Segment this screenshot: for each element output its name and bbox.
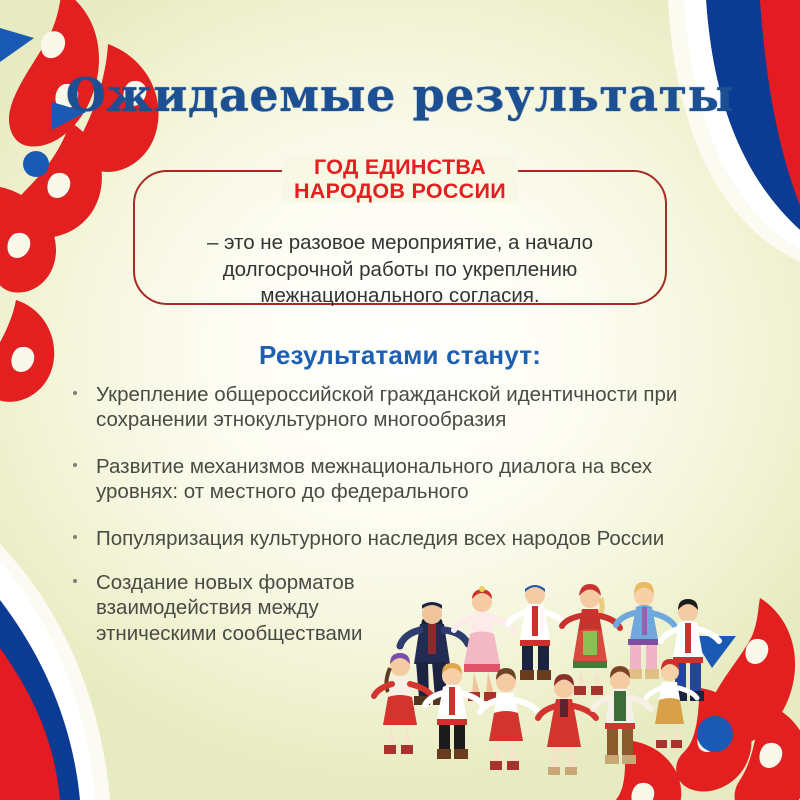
list-item: Популяризация культурного наследия всех … <box>68 526 718 551</box>
list-item: Создание новых форматов взаимодействия м… <box>68 570 368 646</box>
poster-canvas: Ожидаемые результаты ГОД ЕДИНСТВА НАРОДО… <box>0 0 800 800</box>
callout-heading-line1: ГОД ЕДИНСТВА <box>314 155 486 179</box>
list-item-text: Создание новых форматов взаимодействия м… <box>96 571 362 645</box>
child-figure <box>593 666 651 764</box>
list-item-text: Развитие механизмов межнационального диа… <box>96 455 652 503</box>
list-item-text: Популяризация культурного наследия всех … <box>96 527 664 550</box>
callout-box: ГОД ЕДИНСТВА НАРОДОВ РОССИИ – это не раз… <box>133 170 667 305</box>
bullet-dot-icon <box>73 463 77 467</box>
blue-triangle-accent <box>0 28 86 250</box>
bullet-dot-icon <box>73 579 77 583</box>
callout-heading-line2: НАРОДОВ РОССИИ <box>294 179 506 203</box>
bullet-dot-icon <box>73 391 77 395</box>
callout-body-text: – это не разовое мероприятие, а начало д… <box>149 230 651 310</box>
results-subtitle: Результатами станут: <box>0 340 800 371</box>
callout-heading: ГОД ЕДИНСТВА НАРОДОВ РОССИИ <box>282 155 518 203</box>
blue-dot-accent <box>23 151 49 177</box>
child-figure <box>538 674 596 775</box>
top-right-tricolor-ribbon <box>668 0 800 262</box>
children-round-dance-illustration <box>370 562 730 777</box>
bullet-dot-icon <box>73 535 77 539</box>
list-item: Укрепление общероссийской гражданской ид… <box>68 382 718 433</box>
list-item: Развитие механизмов межнационального диа… <box>68 454 718 505</box>
list-item-text: Укрепление общероссийской гражданской ид… <box>96 383 677 431</box>
page-title: Ожидаемые результаты <box>0 68 800 122</box>
